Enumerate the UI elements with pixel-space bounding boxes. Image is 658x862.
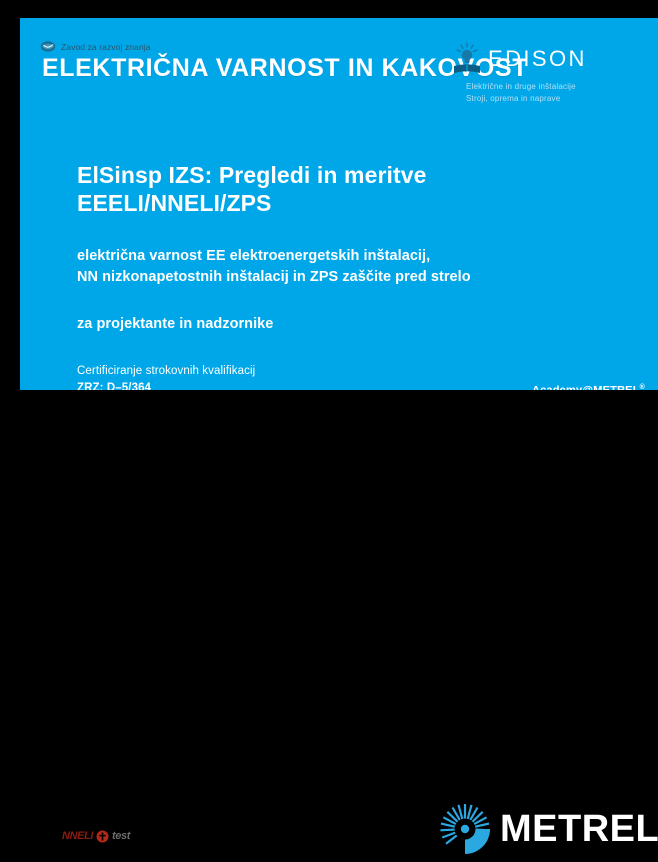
main-title: ElSinsp IZS: Pregledi in meritve EEELI/N…: [77, 161, 427, 217]
subtitle-line-2: NN nizkonapetostnih inštalacij in ZPS za…: [77, 267, 471, 288]
subtitle-block: električna varnost EE elektroenergetskih…: [77, 246, 471, 288]
main-title-line-1: ElSinsp IZS: Pregledi in meritve: [77, 161, 427, 189]
lightbulb-book-icon: [452, 42, 482, 76]
edison-wordmark: EDISON: [488, 48, 587, 70]
nneli-logo-suffix: test: [112, 831, 130, 842]
audience-line: za projektante in nadzornike: [77, 316, 273, 332]
brand-tagline-label: Zavod za razvoj znanja: [61, 42, 151, 52]
brand-tagline: Zavod za razvoj znanja: [40, 40, 151, 53]
nneli-dot-icon: [96, 830, 109, 843]
metrel-wordmark-text: METREL: [500, 808, 658, 850]
nneli-logo-word: NNELI: [62, 831, 93, 842]
edison-logo: EDISON Električne in druge inštalacije S…: [452, 42, 650, 112]
edison-logo-top: EDISON: [452, 42, 650, 76]
subtitle-line-1: električna varnost EE elektroenergetskih…: [77, 246, 471, 267]
metrel-sunburst-icon: [437, 801, 493, 857]
slide-footer: NNELI test: [0, 390, 658, 492]
nneli-test-logo: NNELI test: [62, 830, 130, 843]
edison-subline-1: Električne in druge inštalacije: [466, 81, 650, 93]
swirl-icon: [40, 40, 56, 53]
main-title-line-2: EEELI/NNELI/ZPS: [77, 189, 427, 217]
metrel-logo: METREL®: [437, 801, 658, 857]
edison-sublines: Električne in druge inštalacije Stroji, …: [466, 81, 650, 106]
certification-label: Certificiranje strokovnih kvalifikacij: [77, 363, 255, 380]
edison-subline-2: Stroji, oprema in naprave: [466, 93, 650, 105]
slide-content-panel: Zavod za razvoj znanja ELEKTRIČNA VARNOS…: [20, 18, 658, 390]
metrel-wordmark: METREL®: [500, 810, 658, 848]
presentation-slide: Zavod za razvoj znanja ELEKTRIČNA VARNOS…: [0, 0, 658, 492]
